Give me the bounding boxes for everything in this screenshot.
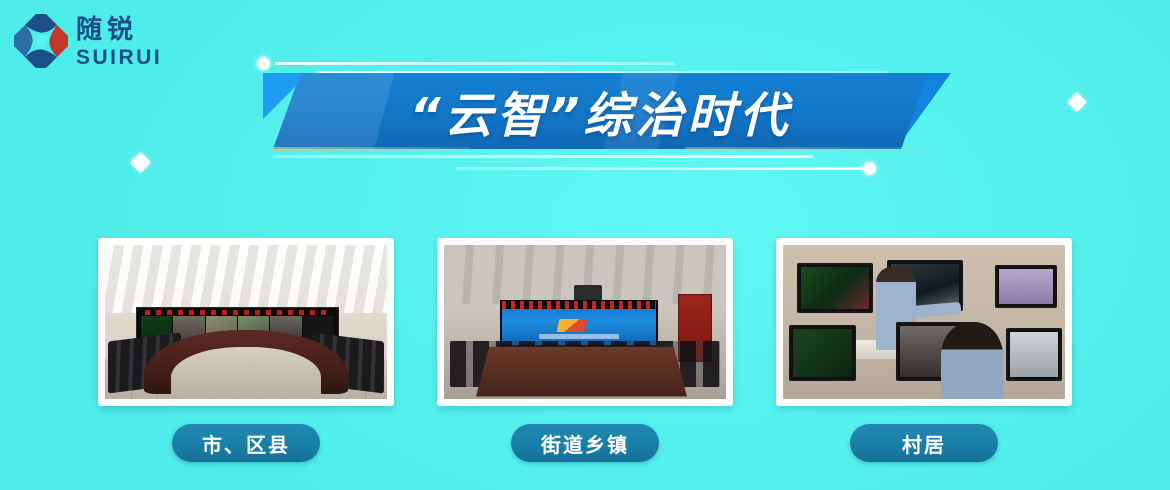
card-label-pill[interactable]: 村居: [850, 424, 998, 462]
photo-frame: [437, 238, 733, 406]
brand-logo-text: 随锐 SUIRUI: [76, 15, 162, 68]
diamond-right-decor: [1067, 92, 1087, 112]
village-residence-monitoring-photo: [783, 245, 1065, 399]
street-township-meeting-room-photo: [444, 245, 726, 399]
brand-name-cn: 随锐: [76, 17, 162, 43]
category-card-city-district[interactable]: 市、区县: [98, 238, 394, 462]
photo-frame: [776, 238, 1072, 406]
city-district-command-room-photo: [105, 245, 387, 399]
photo-frame: [98, 238, 394, 406]
suirui-pinwheel-logo-icon: [14, 14, 68, 68]
banner-sheen-left: [271, 147, 471, 152]
brand-logo[interactable]: 随锐 SUIRUI: [14, 14, 162, 68]
category-card-row: 市、区县 街道乡镇: [0, 238, 1170, 462]
card-label-pill[interactable]: 街道乡镇: [511, 424, 659, 462]
banner-top-line-1: [275, 62, 675, 65]
card-label-pill[interactable]: 市、区县: [172, 424, 320, 462]
slide-canvas: 随锐 SUIRUI “云智”综治时代: [0, 0, 1170, 490]
banner-title-text: “云智”综治时代: [273, 73, 928, 149]
category-card-street-township[interactable]: 街道乡镇: [437, 238, 733, 462]
banner-bottom-dot-icon: [863, 162, 876, 175]
brand-name-en: SUIRUI: [76, 47, 162, 68]
diamond-left-decor: [130, 152, 151, 173]
category-card-village-residence[interactable]: 村居: [776, 238, 1072, 462]
banner-bottom-line-2: [455, 167, 875, 170]
banner-sheen-right: [685, 147, 935, 152]
title-banner: “云智”综治时代: [255, 55, 945, 195]
banner-bottom-line-1: [273, 155, 813, 158]
banner-top-dot-icon: [257, 57, 270, 70]
